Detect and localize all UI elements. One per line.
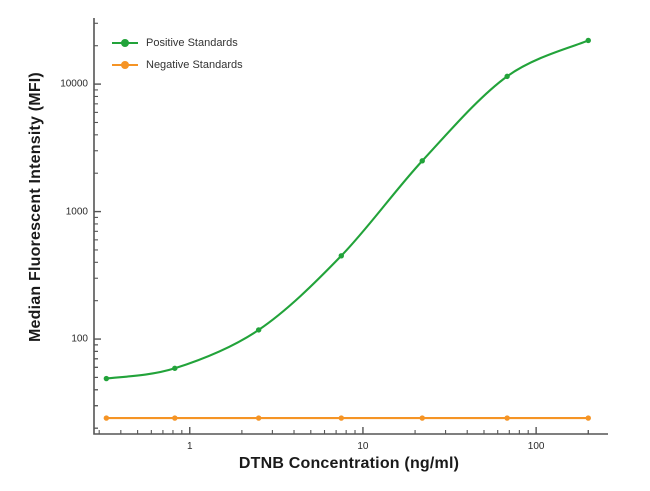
- data-point: [104, 415, 109, 420]
- data-point: [339, 253, 344, 258]
- x-tick-label: 1: [187, 441, 193, 452]
- series-positive-standards: [104, 38, 591, 382]
- data-point: [104, 376, 109, 381]
- y-tick-label: 10000: [30, 79, 88, 90]
- x-axis-title: DTNB Concentration (ng/ml): [94, 455, 604, 473]
- data-point: [172, 415, 177, 420]
- legend-marker-icon: [112, 36, 138, 50]
- legend-label: Positive Standards: [146, 37, 238, 49]
- data-point: [172, 366, 177, 371]
- data-point: [256, 415, 261, 420]
- data-point: [339, 415, 344, 420]
- plot-area: [0, 0, 650, 491]
- legend-item-positive-standards[interactable]: Positive Standards: [112, 32, 243, 54]
- data-point: [504, 415, 509, 420]
- legend-marker-icon: [112, 58, 138, 72]
- chart-legend: Positive Standards Negative Standards: [112, 32, 243, 76]
- data-point: [420, 415, 425, 420]
- y-tick-label: 100: [30, 334, 88, 345]
- data-point: [504, 74, 509, 79]
- y-tick-label: 1000: [30, 206, 88, 217]
- data-point: [586, 38, 591, 43]
- legend-item-negative-standards[interactable]: Negative Standards: [112, 54, 243, 76]
- data-point: [256, 327, 261, 332]
- x-tick-label: 100: [528, 441, 545, 452]
- data-point: [420, 158, 425, 163]
- series-negative-standards: [104, 415, 591, 420]
- chart-container: Median Fluorescent Intensity (MFI) DTNB …: [0, 0, 650, 491]
- data-point: [586, 415, 591, 420]
- legend-label: Negative Standards: [146, 59, 243, 71]
- x-tick-label: 10: [357, 441, 368, 452]
